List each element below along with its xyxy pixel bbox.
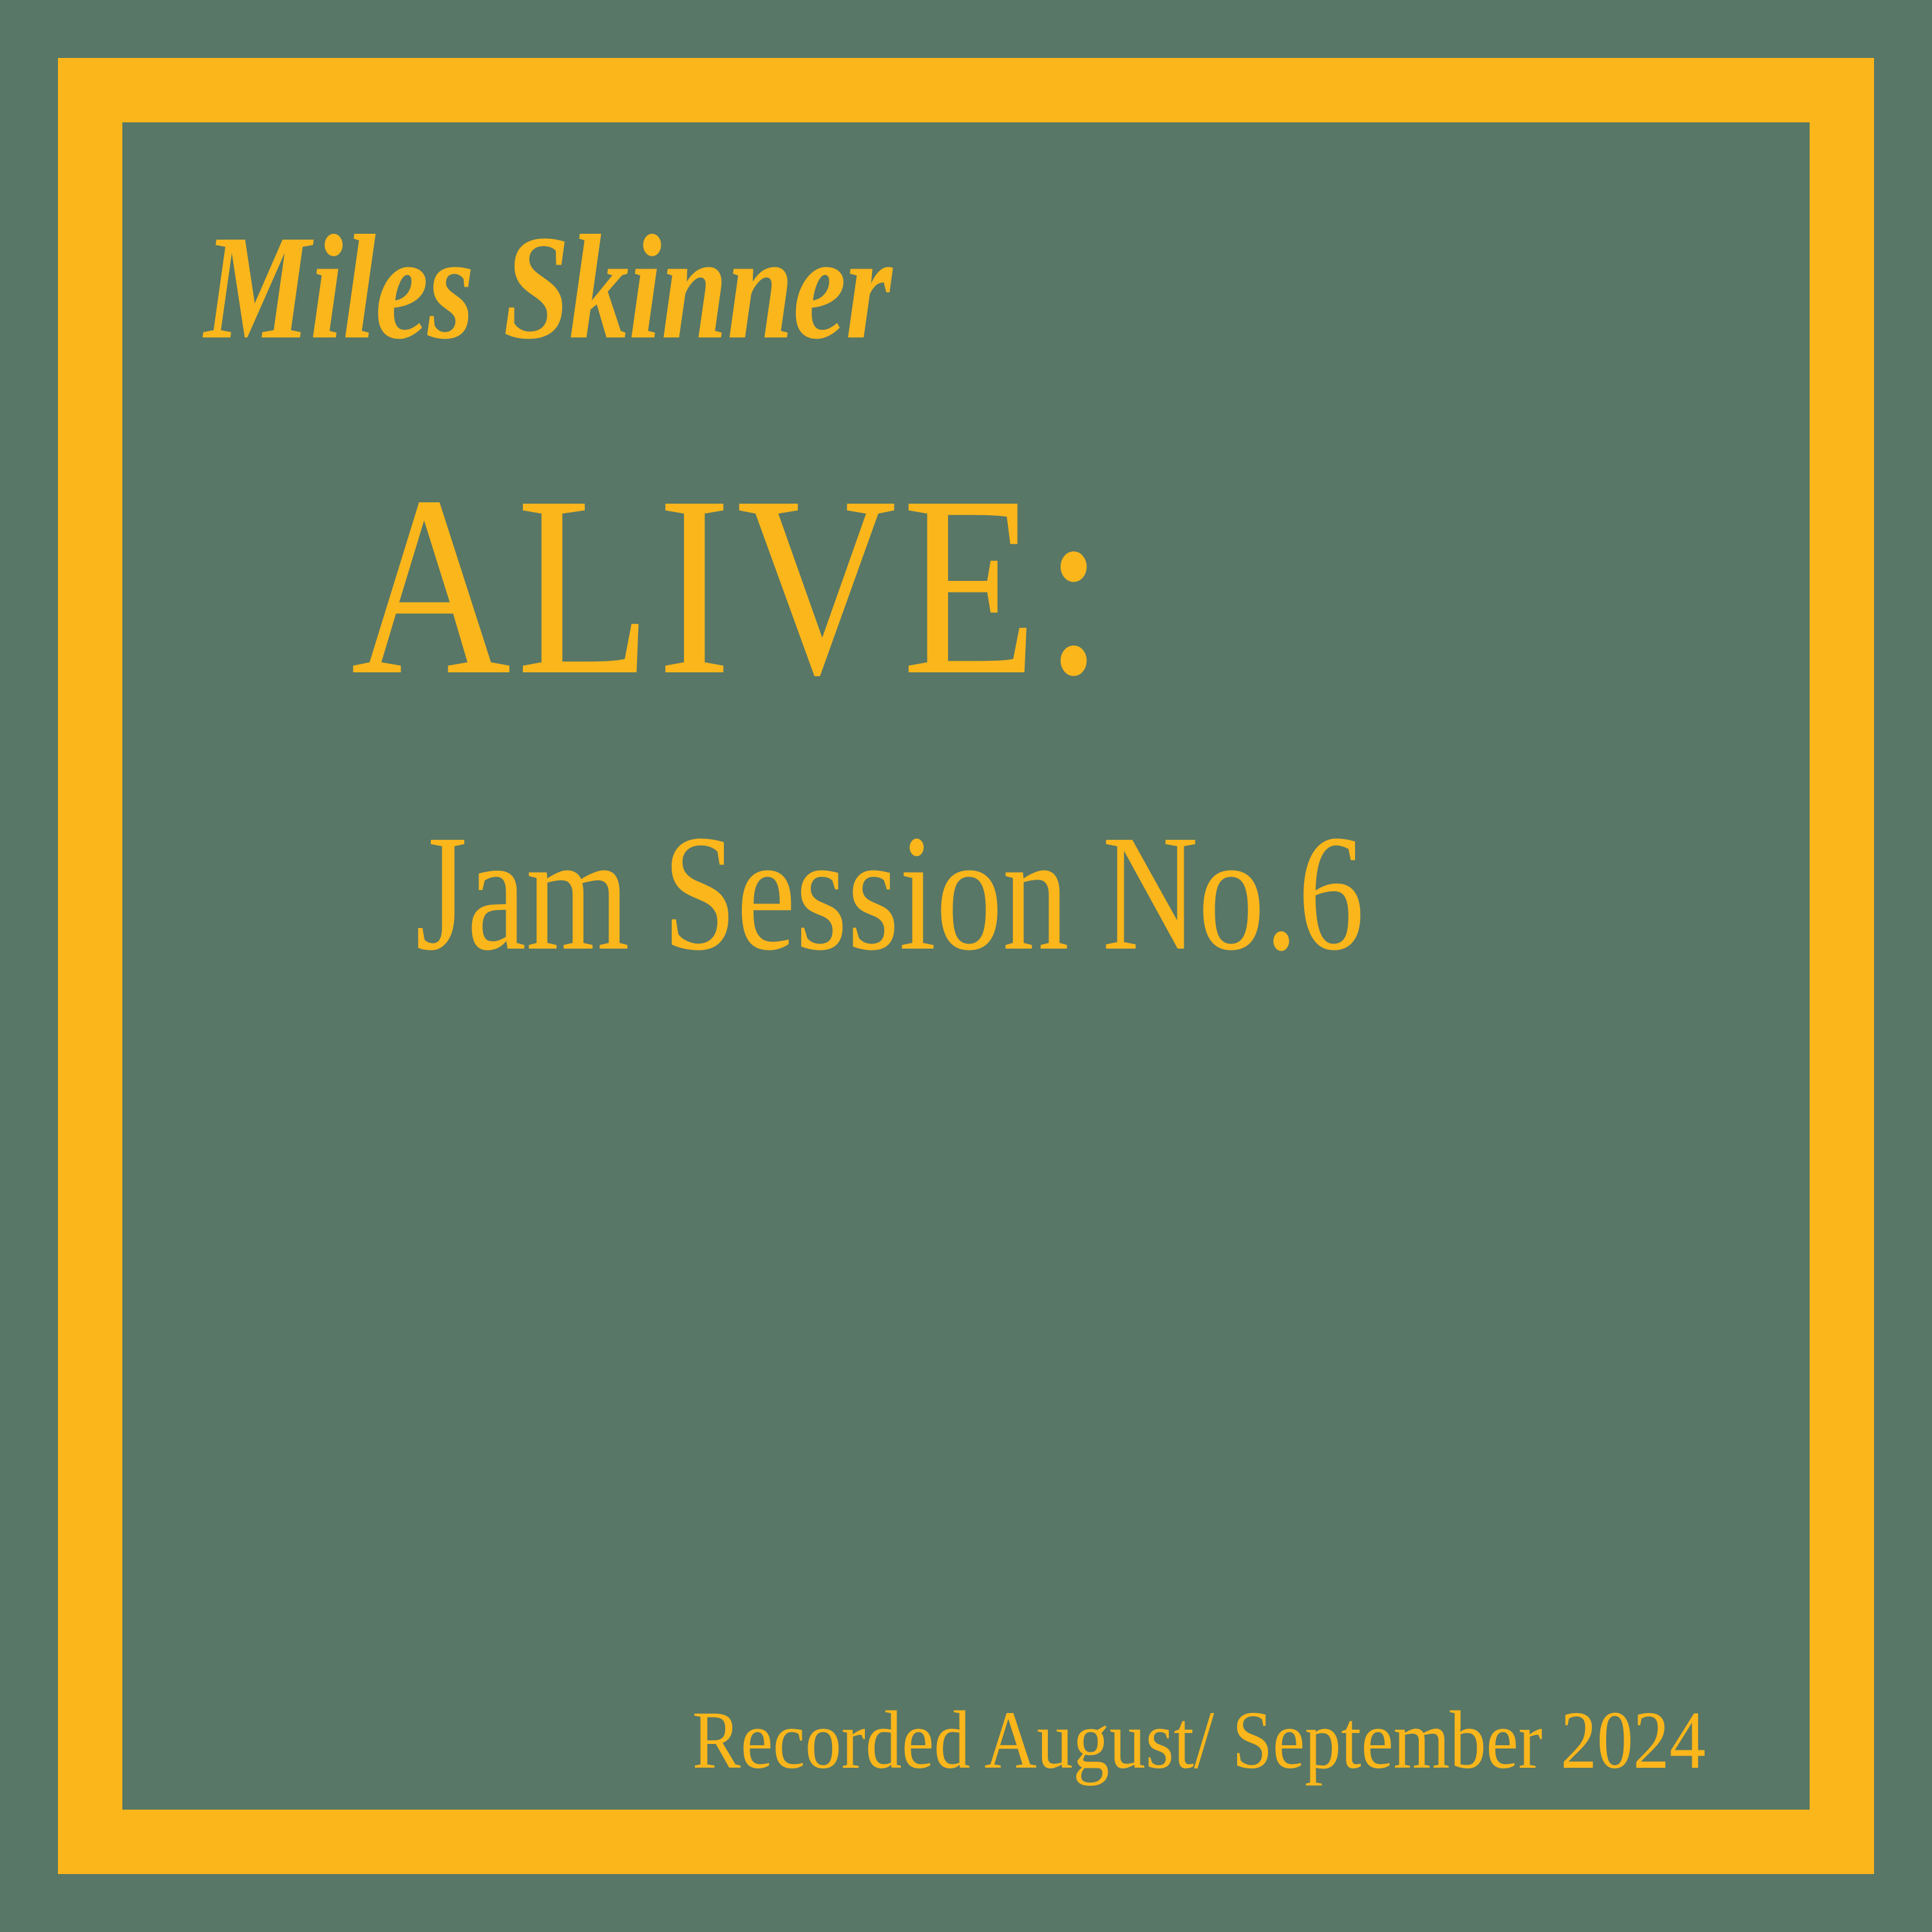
cover-content-area: Miles Skinner ALIVE: Jam Session No.6 Re…	[122, 122, 1810, 1810]
recording-credit: Recorded August/ September 2024	[692, 1699, 1706, 1781]
album-subtitle: Jam Session No.6	[415, 810, 1365, 976]
album-title: ALIVE:	[351, 457, 1110, 715]
artist-name: Miles Skinner	[204, 213, 891, 363]
album-cover: Miles Skinner ALIVE: Jam Session No.6 Re…	[0, 0, 1932, 1932]
